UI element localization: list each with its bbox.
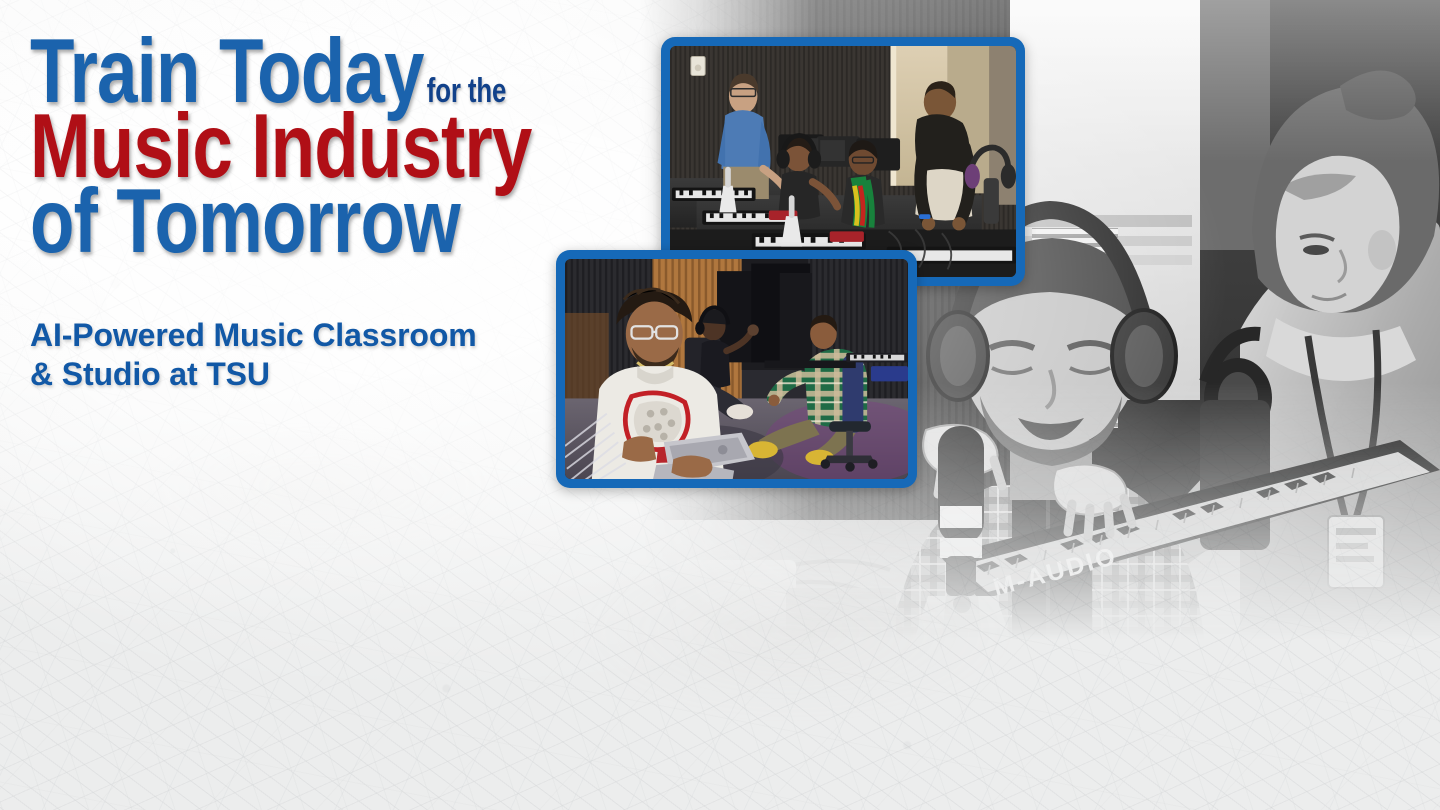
subtitle-line-2: & Studio at TSU [30, 355, 477, 394]
studio-photo-image [565, 259, 908, 479]
promotional-banner: M-AUDIO [0, 0, 1440, 810]
music-technology-classroom-photo [661, 37, 1025, 286]
recording-studio-session-photo [556, 250, 917, 488]
subtitle-line-1: AI-Powered Music Classroom [30, 316, 477, 355]
headline-line-3: of Tomorrow [30, 186, 510, 259]
classroom-photo-image [670, 46, 1016, 277]
subtitle-block: AI-Powered Music Classroom & Studio at T… [30, 316, 477, 395]
headline-block: Train Todayfor the Music Industry of Tom… [30, 36, 630, 258]
